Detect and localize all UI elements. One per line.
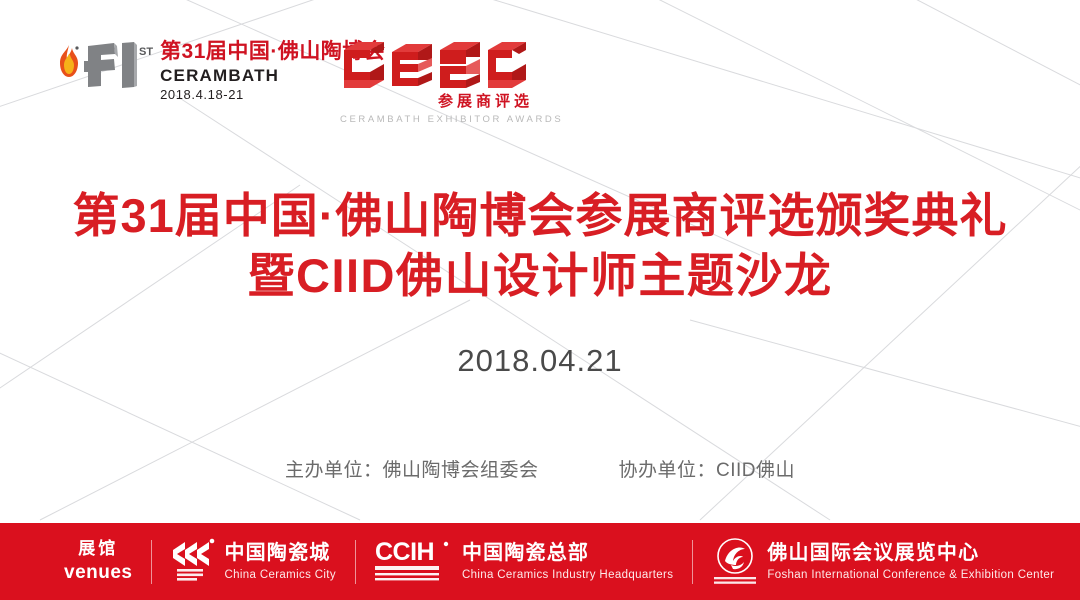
venue-name-en: China Ceramics City bbox=[224, 568, 335, 583]
footer-divider bbox=[151, 540, 152, 584]
venues-label-cn: 展馆 bbox=[64, 538, 132, 559]
footer-divider bbox=[355, 540, 356, 584]
venues-label-en: venues bbox=[64, 561, 132, 585]
page-title: 第31届中国·佛山陶博会参展商评选颁奖典礼 暨CIID佛山设计师主题沙龙 bbox=[0, 186, 1080, 306]
cerambath-logo: ST 第31届中国·佛山陶博会 CERAMBATH 2018.4.18-21 bbox=[56, 36, 385, 102]
title-line-2: 暨CIID佛山设计师主题沙龙 bbox=[0, 246, 1080, 306]
venue-names: 中国陶瓷城 China Ceramics City bbox=[224, 540, 335, 583]
venues-label: 展馆 venues bbox=[64, 538, 132, 585]
poster-header: ST 第31届中国·佛山陶博会 CERAMBATH 2018.4.18-21 bbox=[0, 0, 1080, 140]
edition-ordinal-suffix: ST bbox=[139, 46, 153, 58]
venues-footer: 展馆 venues 中国陶瓷城 China bbox=[0, 523, 1080, 600]
ceac-3d-blocks-icon bbox=[340, 34, 528, 96]
co-organizer: 协办单位：CIID佛山 bbox=[619, 455, 796, 482]
ceac-awards-logo: 参展商评选 CERAMBATH EXHIBITOR AWARDS bbox=[340, 34, 535, 125]
flame-icon bbox=[56, 44, 82, 78]
venue-names: 中国陶瓷总部 China Ceramics Industry Headquart… bbox=[462, 540, 673, 583]
venue-name-en: China Ceramics Industry Headquarters bbox=[462, 568, 673, 583]
organizer-row: 主办单位：佛山陶博会组委会 协办单位：CIID佛山 bbox=[0, 455, 1080, 482]
ceac-name-en: CERAMBATH EXHIBITOR AWARDS bbox=[340, 114, 535, 125]
venue-name-cn: 佛山国际会议展览中心 bbox=[767, 540, 1054, 566]
edition-number-31 bbox=[84, 42, 138, 88]
venue-china-ceramics-industry-headquarters: CCIH 中国陶瓷总部 China Ceramics Industry Head… bbox=[375, 537, 673, 587]
china-ceramics-city-logo-icon bbox=[171, 538, 215, 586]
event-date: 2018.04.21 bbox=[0, 343, 1080, 379]
ccih-logo-icon: CCIH bbox=[375, 537, 453, 587]
venue-name-cn: 中国陶瓷城 bbox=[224, 540, 335, 566]
venue-china-ceramics-city: 中国陶瓷城 China Ceramics City bbox=[171, 538, 335, 586]
venue-name-en: Foshan International Conference & Exhibi… bbox=[767, 568, 1054, 583]
venue-name-cn: 中国陶瓷总部 bbox=[462, 540, 673, 566]
svg-text:CCIH: CCIH bbox=[375, 538, 434, 566]
title-line-1: 第31届中国·佛山陶博会参展商评选颁奖典礼 bbox=[0, 186, 1080, 246]
organizer: 主办单位：佛山陶博会组委会 bbox=[285, 455, 539, 482]
ceac-name-cn: 参展商评选 bbox=[340, 90, 535, 111]
footer-divider bbox=[692, 540, 693, 584]
venue-names: 佛山国际会议展览中心 Foshan International Conferen… bbox=[767, 540, 1054, 583]
venue-foshan-international-conference-exhibition-center: 佛山国际会议展览中心 Foshan International Conferen… bbox=[712, 537, 1054, 587]
foshan-expo-center-logo-icon bbox=[712, 537, 758, 587]
event-poster: ST 第31届中国·佛山陶博会 CERAMBATH 2018.4.18-21 bbox=[0, 0, 1080, 600]
